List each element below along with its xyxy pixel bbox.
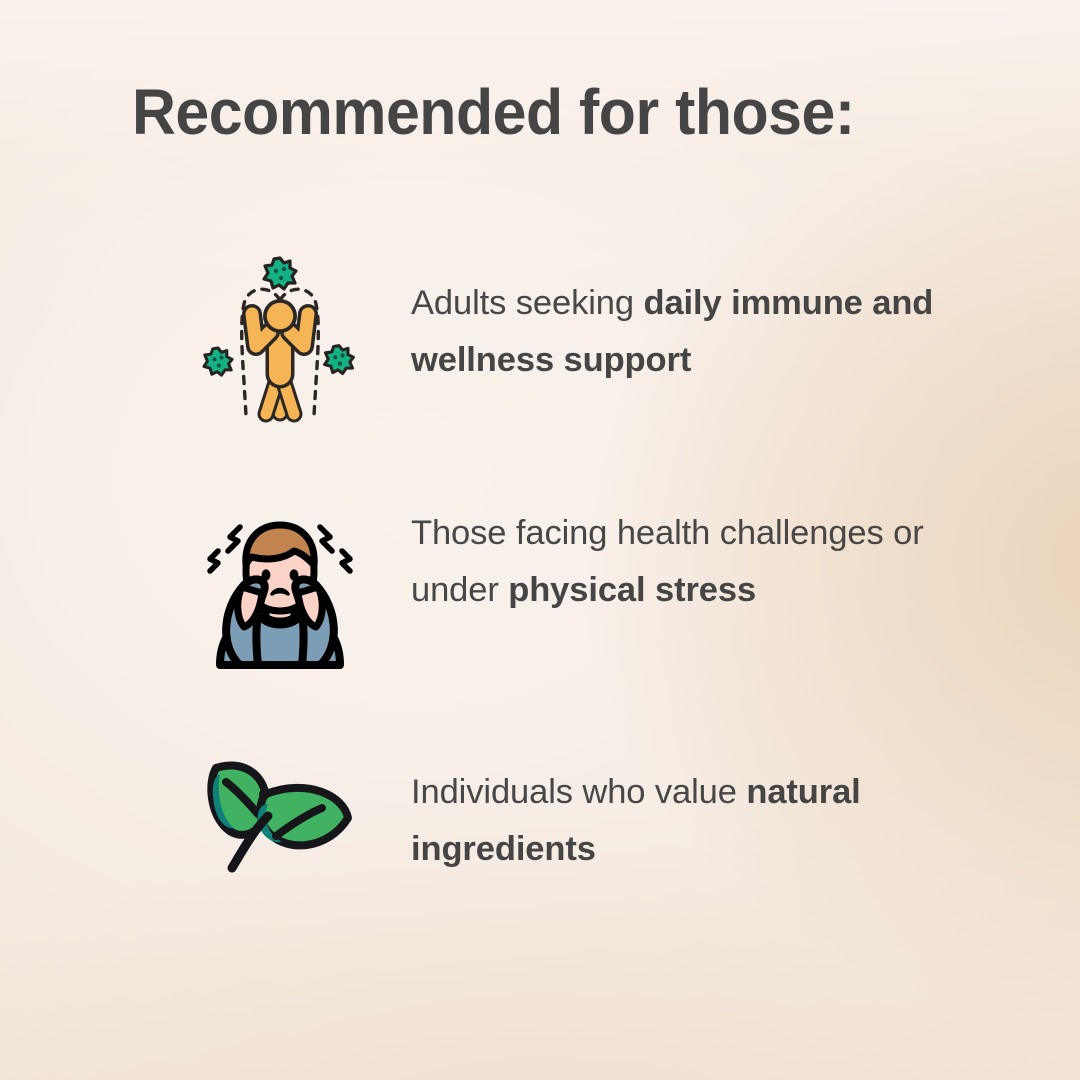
list-item-text: Those facing health challenges or under … [364,497,986,619]
list-item: Adults seeking daily immune and wellness… [196,248,986,418]
list-item: Individuals who value natural ingredient… [196,748,986,878]
recommendation-list: Adults seeking daily immune and wellness… [0,0,1080,1080]
list-item-text: Adults seeking daily immune and wellness… [364,248,986,389]
immune-person-shield-icon [196,248,364,418]
list-item: Those facing health challenges or under … [196,497,986,667]
stressed-person-icon [196,497,364,667]
poster-stage: Recommended for those: [0,0,1080,1080]
list-item-text: Individuals who value natural ingredient… [364,748,986,878]
list-item-text-plain: Individuals who value [411,773,746,811]
leaf-sprig-icon [196,748,364,878]
list-item-text-bold: physical stress [508,571,756,609]
list-item-text-plain: Adults seeking [411,284,643,322]
